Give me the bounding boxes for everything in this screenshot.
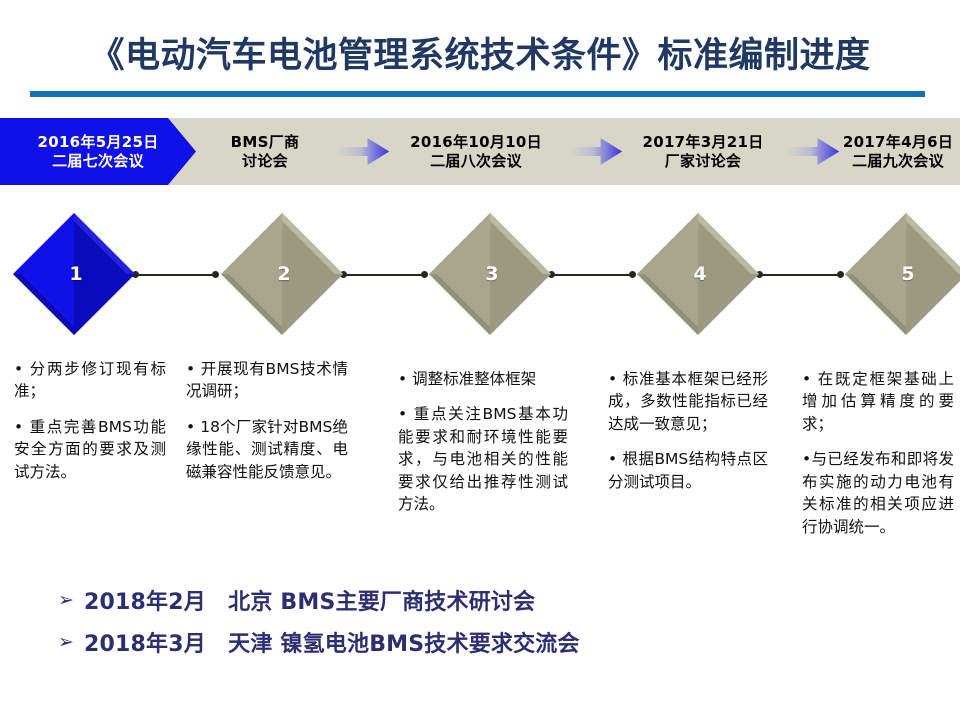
- detail-column-4: • 标准基本框架已经形成，多数性能指标已经达成一致意见； • 根据BMS结构特点…: [608, 368, 768, 493]
- timeline-item-5-line2: 二届九次会议: [852, 152, 944, 170]
- detail-column-5: • 在既定框架基础上增加估算精度的要求； •与已经发布和即将发布实施的动力电池有…: [802, 368, 954, 538]
- timeline-item-2[interactable]: BMS厂商 讨论会: [196, 118, 334, 185]
- arrow-bullet-icon: ➢: [58, 633, 84, 652]
- detail-column-2-bullet-2: • 18个厂家针对BMS绝缘性能、测试精度、电磁兼容性能反馈意见。: [186, 416, 348, 483]
- timeline-arrow-3-icon: [782, 118, 844, 185]
- detail-column-1-bullet-2: • 重点完善BMS功能安全方面的要求及测试方法。: [14, 416, 166, 483]
- connector-line-2-3: [343, 274, 424, 276]
- footer-list-item-1[interactable]: ➢ 2018年2月 北京 BMS主要厂商技术研讨会: [58, 584, 535, 616]
- milestone-diamond-5[interactable]: 5: [841, 209, 960, 339]
- detail-column-1-bullet-1: • 分两步修订现有标准；: [14, 358, 166, 403]
- footer-list-item-2[interactable]: ➢ 2018年3月 天津 镍氢电池BMS技术要求交流会: [58, 626, 580, 658]
- timeline-item-5[interactable]: 2017年4月6日 二届九次会议: [836, 118, 960, 185]
- title-underline-rule: [30, 91, 925, 97]
- detail-column-2: • 开展现有BMS技术情况调研； • 18个厂家针对BMS绝缘性能、测试精度、电…: [186, 358, 348, 483]
- timeline-header-bar: 2016年5月25日 二届七次会议 BMS厂商 讨论会 2016年10月10日: [0, 118, 960, 185]
- detail-column-5-bullet-1: • 在既定框架基础上增加估算精度的要求；: [802, 368, 954, 435]
- milestone-diamond-4[interactable]: 4: [633, 209, 763, 339]
- milestone-diamond-2-number: 2: [217, 209, 347, 339]
- detail-column-1: • 分两步修订现有标准； • 重点完善BMS功能安全方面的要求及测试方法。: [14, 358, 166, 483]
- connector-line-3-4: [551, 274, 632, 276]
- page-title: 《电动汽车电池管理系统技术条件》标准编制进度: [89, 27, 870, 78]
- milestone-diamond-row: 1 2 3: [0, 200, 960, 350]
- connector-line-1-2: [135, 274, 215, 276]
- milestone-diamond-2[interactable]: 2: [217, 209, 347, 339]
- detail-column-3: • 调整标准整体框架 • 重点关注BMS基本功能要求和耐环境性能要求，与电池相关…: [398, 368, 568, 516]
- milestone-diamond-5-number: 5: [841, 209, 960, 339]
- detail-column-3-bullet-1: • 调整标准整体框架: [398, 368, 568, 390]
- detail-columns: • 分两步修订现有标准； • 重点完善BMS功能安全方面的要求及测试方法。 • …: [0, 358, 960, 563]
- timeline-item-1-highlighted[interactable]: 2016年5月25日 二届七次会议: [0, 118, 196, 185]
- detail-column-3-bullet-2: • 重点关注BMS基本功能要求和耐环境性能要求，与电池相关的性能要求仅给出推荐性…: [398, 403, 568, 515]
- timeline-item-3-line1: 2016年10月10日: [410, 133, 542, 151]
- connector-line-4-5: [759, 274, 840, 276]
- timeline-item-2-line1: BMS厂商: [231, 133, 300, 151]
- timeline-item-5-line1: 2017年4月6日: [843, 133, 953, 151]
- milestone-diamond-3-number: 3: [425, 209, 555, 339]
- timeline-item-3[interactable]: 2016年10月10日 二届八次会议: [386, 118, 566, 185]
- timeline-item-1-line1: 2016年5月25日: [37, 133, 158, 151]
- detail-column-4-bullet-1: • 标准基本框架已经形成，多数性能指标已经达成一致意见；: [608, 368, 768, 435]
- timeline-item-4-line2: 厂家讨论会: [665, 152, 742, 170]
- timeline-item-1-line2: 二届七次会议: [52, 152, 144, 170]
- arrow-bullet-icon: ➢: [58, 591, 84, 610]
- footer-list-item-1-text: 2018年2月 北京 BMS主要厂商技术研讨会: [84, 584, 535, 616]
- milestone-diamond-1-number: 1: [9, 209, 139, 339]
- milestone-diamond-4-number: 4: [633, 209, 763, 339]
- detail-column-4-bullet-2: • 根据BMS结构特点区分测试项目。: [608, 448, 768, 493]
- milestone-diamond-3[interactable]: 3: [425, 209, 555, 339]
- timeline-item-4[interactable]: 2017年3月21日 厂家讨论会: [620, 118, 786, 185]
- footer-upcoming-events: ➢ 2018年2月 北京 BMS主要厂商技术研讨会 ➢ 2018年3月 天津 镍…: [0, 578, 960, 668]
- timeline-item-4-line1: 2017年3月21日: [642, 133, 763, 151]
- page-title-container: 《电动汽车电池管理系统技术条件》标准编制进度: [0, 22, 960, 82]
- footer-list-item-2-text: 2018年3月 天津 镍氢电池BMS技术要求交流会: [84, 626, 580, 658]
- timeline-arrow-2-icon: [565, 118, 627, 185]
- detail-column-5-bullet-2: •与已经发布和即将发布实施的动力电池有关标准的相关项应进行协调统一。: [802, 448, 954, 538]
- timeline-arrow-1-icon: [332, 118, 394, 185]
- detail-column-2-bullet-1: • 开展现有BMS技术情况调研；: [186, 358, 348, 403]
- timeline-item-3-line2: 二届八次会议: [430, 152, 522, 170]
- timeline-item-2-line2: 讨论会: [242, 152, 288, 170]
- milestone-diamond-1[interactable]: 1: [9, 209, 139, 339]
- slide-root: 《电动汽车电池管理系统技术条件》标准编制进度 2016年5月25日 二届七次会议…: [0, 0, 960, 720]
